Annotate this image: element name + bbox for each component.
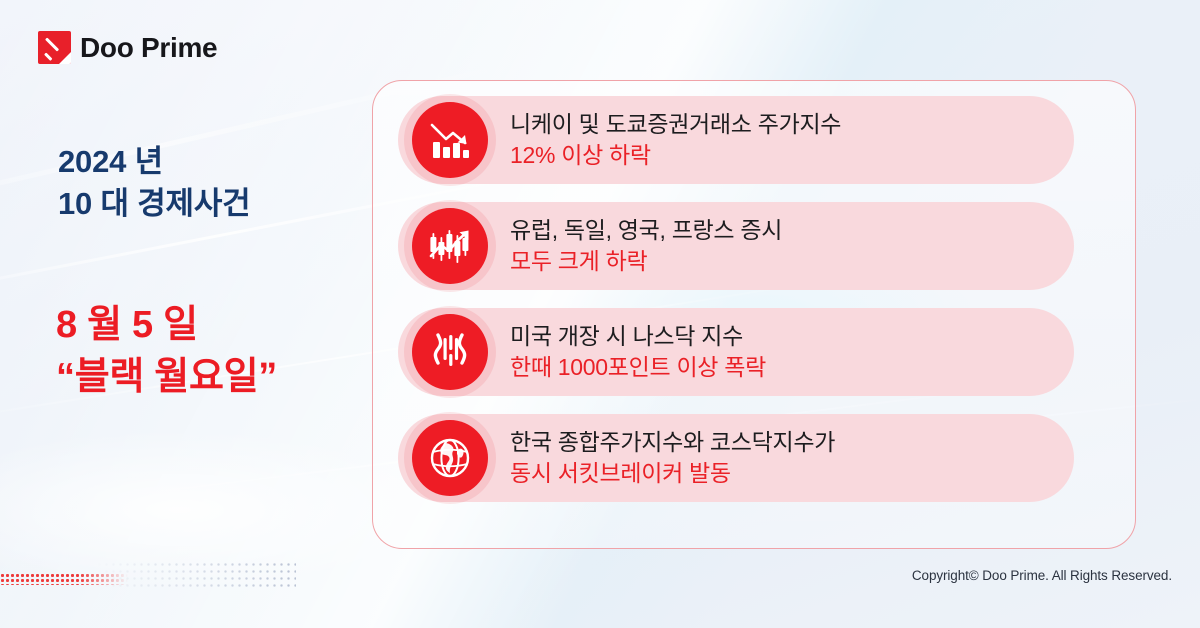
list-item-title: 한국 종합주가지수와 코스닥지수가 (510, 428, 835, 457)
brand-logo[interactable]: Doo Prime (38, 31, 217, 64)
list-item-text: 유럽, 독일, 영국, 프랑스 증시 모두 크게 하락 (510, 216, 782, 276)
list-item[interactable]: 한국 종합주가지수와 코스닥지수가 동시 서킷브레이커 발동 (398, 414, 1074, 502)
globe-icon (412, 420, 488, 496)
poster-canvas: Doo Prime 2024 년 10 대 경제사건 8 월 5 일 “블랙 월… (0, 0, 1200, 628)
volatility-circuit-breaker-icon (412, 314, 488, 390)
red-dot-bar-decoration (0, 573, 128, 585)
copyright-text: Copyright© Doo Prime. All Rights Reserve… (912, 568, 1172, 583)
page-subtitle: 8 월 5 일 “블랙 월요일” (56, 299, 277, 404)
list-item[interactable]: 니케이 및 도쿄증권거래소 주가지수 12% 이상 하락 (398, 96, 1074, 184)
list-item-subtitle: 동시 서킷브레이커 발동 (510, 459, 835, 488)
list-item-title: 유럽, 독일, 영국, 프랑스 증시 (510, 216, 782, 245)
list-item-subtitle: 12% 이상 하락 (510, 141, 841, 170)
list-item-text: 미국 개장 시 나스닥 지수 한때 1000포인트 이상 폭락 (510, 322, 766, 382)
candlestick-chart-icon (412, 208, 488, 284)
falling-bar-chart-icon (412, 102, 488, 178)
doo-prime-flag-icon (38, 31, 71, 64)
list-item-text: 한국 종합주가지수와 코스닥지수가 동시 서킷브레이커 발동 (510, 428, 835, 488)
list-item-title: 미국 개장 시 나스닥 지수 (510, 322, 766, 351)
list-item-subtitle: 한때 1000포인트 이상 폭락 (510, 353, 766, 382)
list-item-text: 니케이 및 도쿄증권거래소 주가지수 12% 이상 하락 (510, 110, 841, 170)
list-item-subtitle: 모두 크게 하락 (510, 247, 782, 276)
page-title: 2024 년 10 대 경제사건 (58, 141, 251, 225)
event-list: 니케이 및 도쿄증권거래소 주가지수 12% 이상 하락 (398, 96, 1074, 502)
brand-logo-text: Doo Prime (80, 32, 217, 64)
list-item[interactable]: 유럽, 독일, 영국, 프랑스 증시 모두 크게 하락 (398, 202, 1074, 290)
list-item[interactable]: 미국 개장 시 나스닥 지수 한때 1000포인트 이상 폭락 (398, 308, 1074, 396)
list-item-title: 니케이 및 도쿄증권거래소 주가지수 (510, 110, 841, 139)
